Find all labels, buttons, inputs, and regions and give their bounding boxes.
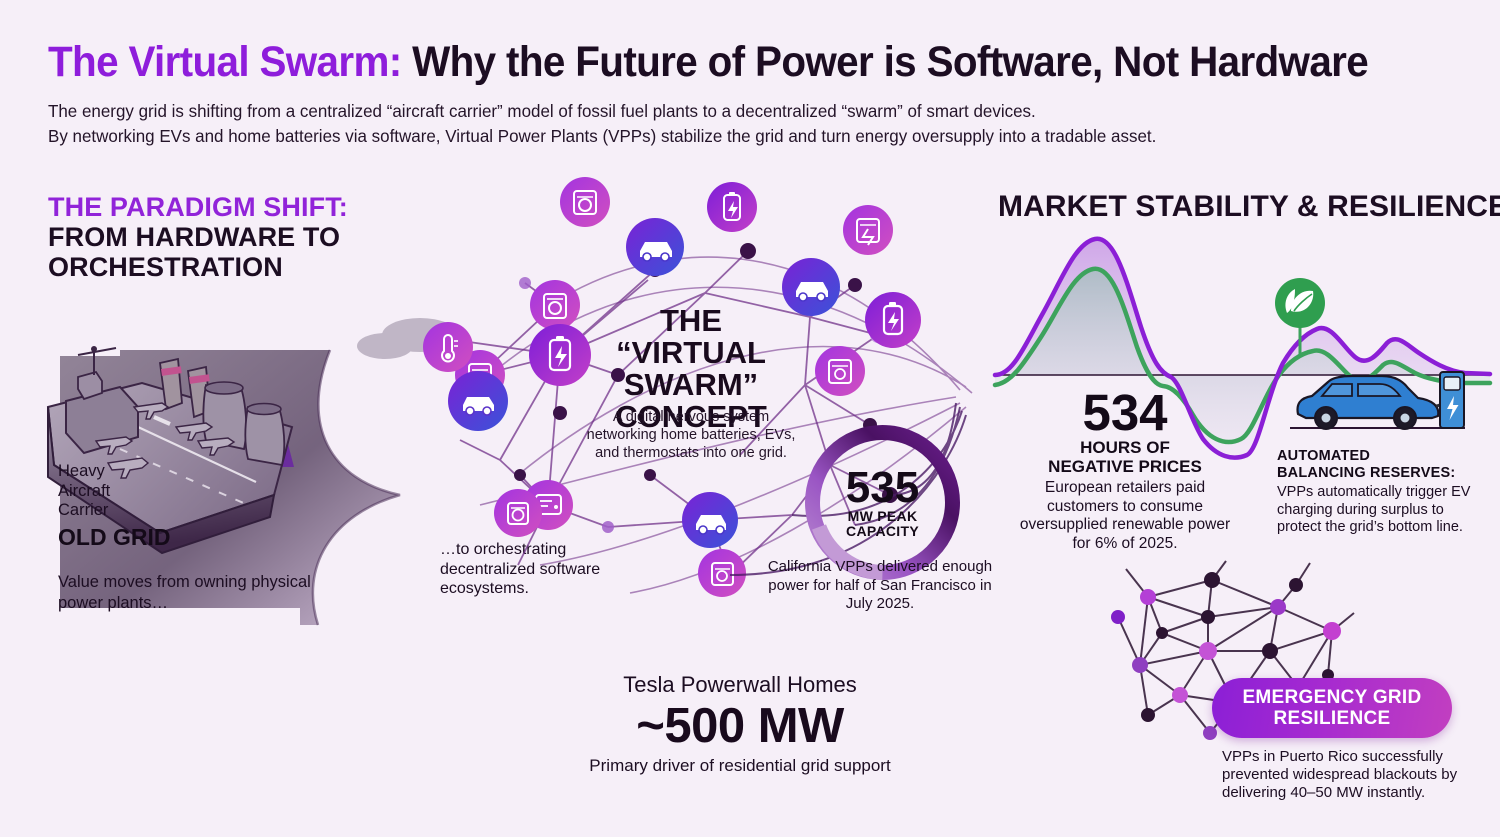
tesla-powerwall-stat: Tesla Powerwall Homes ~500 MW Primary dr… [520,672,960,776]
donut-caption-line-2: CAPACITY [846,524,919,539]
infographic-canvas: The Virtual Swarm: Why the Future of Pow… [0,0,1500,837]
stat-body: European retailers paid customers to con… [1018,479,1232,553]
ev-charging-illustration [1290,360,1465,435]
title-rest: Why the Future of Power is Software, Not… [402,38,1369,86]
puerto-rico-note: VPPs in Puerto Rico successfully prevent… [1222,748,1484,802]
stat-value: 534 [1018,388,1232,438]
carrier-label-line-2: Aircraft [58,482,258,502]
market-stability-title: MARKET STABILITY & RESILIENCE [998,190,1500,224]
carrier-label-line-1: Heavy [58,462,258,482]
swarm-node-washer [530,280,580,330]
swarm-node-appliance-bottom [698,549,746,597]
balancing-head-line-1: AUTOMATED [1277,448,1477,465]
header: The Virtual Swarm: Why the Future of Pow… [48,38,1468,149]
balancing-body: VPPs automatically trigger EV charging d… [1277,484,1477,537]
swarm-node-battery-right [865,292,921,348]
donut-footnote: California VPPs delivered enough power f… [765,558,995,614]
swarm-node-battery-left [529,324,591,386]
swarm-title-line-1: THE “VIRTUAL [586,305,796,369]
tesla-value: ~500 MW [520,698,960,754]
emergency-pill-line-2: RESILIENCE [1273,708,1390,729]
tesla-label: Tesla Powerwall Homes [520,672,960,698]
emergency-pill-line-1: EMERGENCY GRID [1242,687,1421,708]
donut-value: 535 [846,467,919,509]
swarm-node-thermostat [423,322,473,372]
swarm-node-washer-lower [494,489,542,537]
value-moves-note: Value moves from owning physical power p… [58,572,358,614]
swarm-title-line-2: SWARM” [586,369,796,401]
swarm-node-meter-upper-right [843,205,893,255]
paradigm-shift-heading: THE PARADIGM SHIFT: FROM HARDWARE TO ORC… [48,192,408,282]
title-accent: The Virtual Swarm: [48,38,402,86]
paradigm-line-1: THE PARADIGM SHIFT: [48,192,408,222]
subtitle-line-1: The energy grid is shifting from a centr… [48,99,1425,124]
subtitle-line-2: By networking EVs and home batteries via… [48,124,1425,149]
carrier-label-old-grid: OLD GRID [58,524,258,551]
donut-caption-line-1: MW PEAK [846,509,919,524]
swarm-node-ev-car-left [448,371,508,431]
carrier-label-line-3: Carrier [58,501,258,521]
emergency-grid-resilience-badge[interactable]: EMERGENCY GRID RESILIENCE [1212,678,1452,738]
automated-balancing-block: AUTOMATED BALANCING RESERVES: VPPs autom… [1277,448,1477,537]
carrier-label: Heavy Aircraft Carrier OLD GRID [58,462,258,551]
stat-label-line-2: NEGATIVE PRICES [1018,457,1232,476]
tesla-sub: Primary driver of residential grid suppo… [520,756,960,776]
negative-prices-stat: 534 HOURS OF NEGATIVE PRICES European re… [1018,388,1232,553]
subtitle: The energy grid is shifting from a centr… [48,99,1425,149]
swarm-node-washer-top [560,177,610,227]
swarm-node-battery-top [707,182,757,232]
page-title: The Virtual Swarm: Why the Future of Pow… [48,38,1383,87]
swarm-node-ev-top [626,218,684,276]
balancing-head-line-2: BALANCING RESERVES: [1277,465,1477,482]
swarm-node-ev-bottom [682,492,738,548]
stat-label-line-1: HOURS OF [1018,438,1232,457]
paradigm-line-2: FROM HARDWARE TO [48,222,408,252]
swarm-node-appliance-mid-right [815,346,865,396]
paradigm-line-3: ORCHESTRATION [48,252,408,282]
swarm-concept-description: A digital nervous system networking home… [580,408,802,462]
